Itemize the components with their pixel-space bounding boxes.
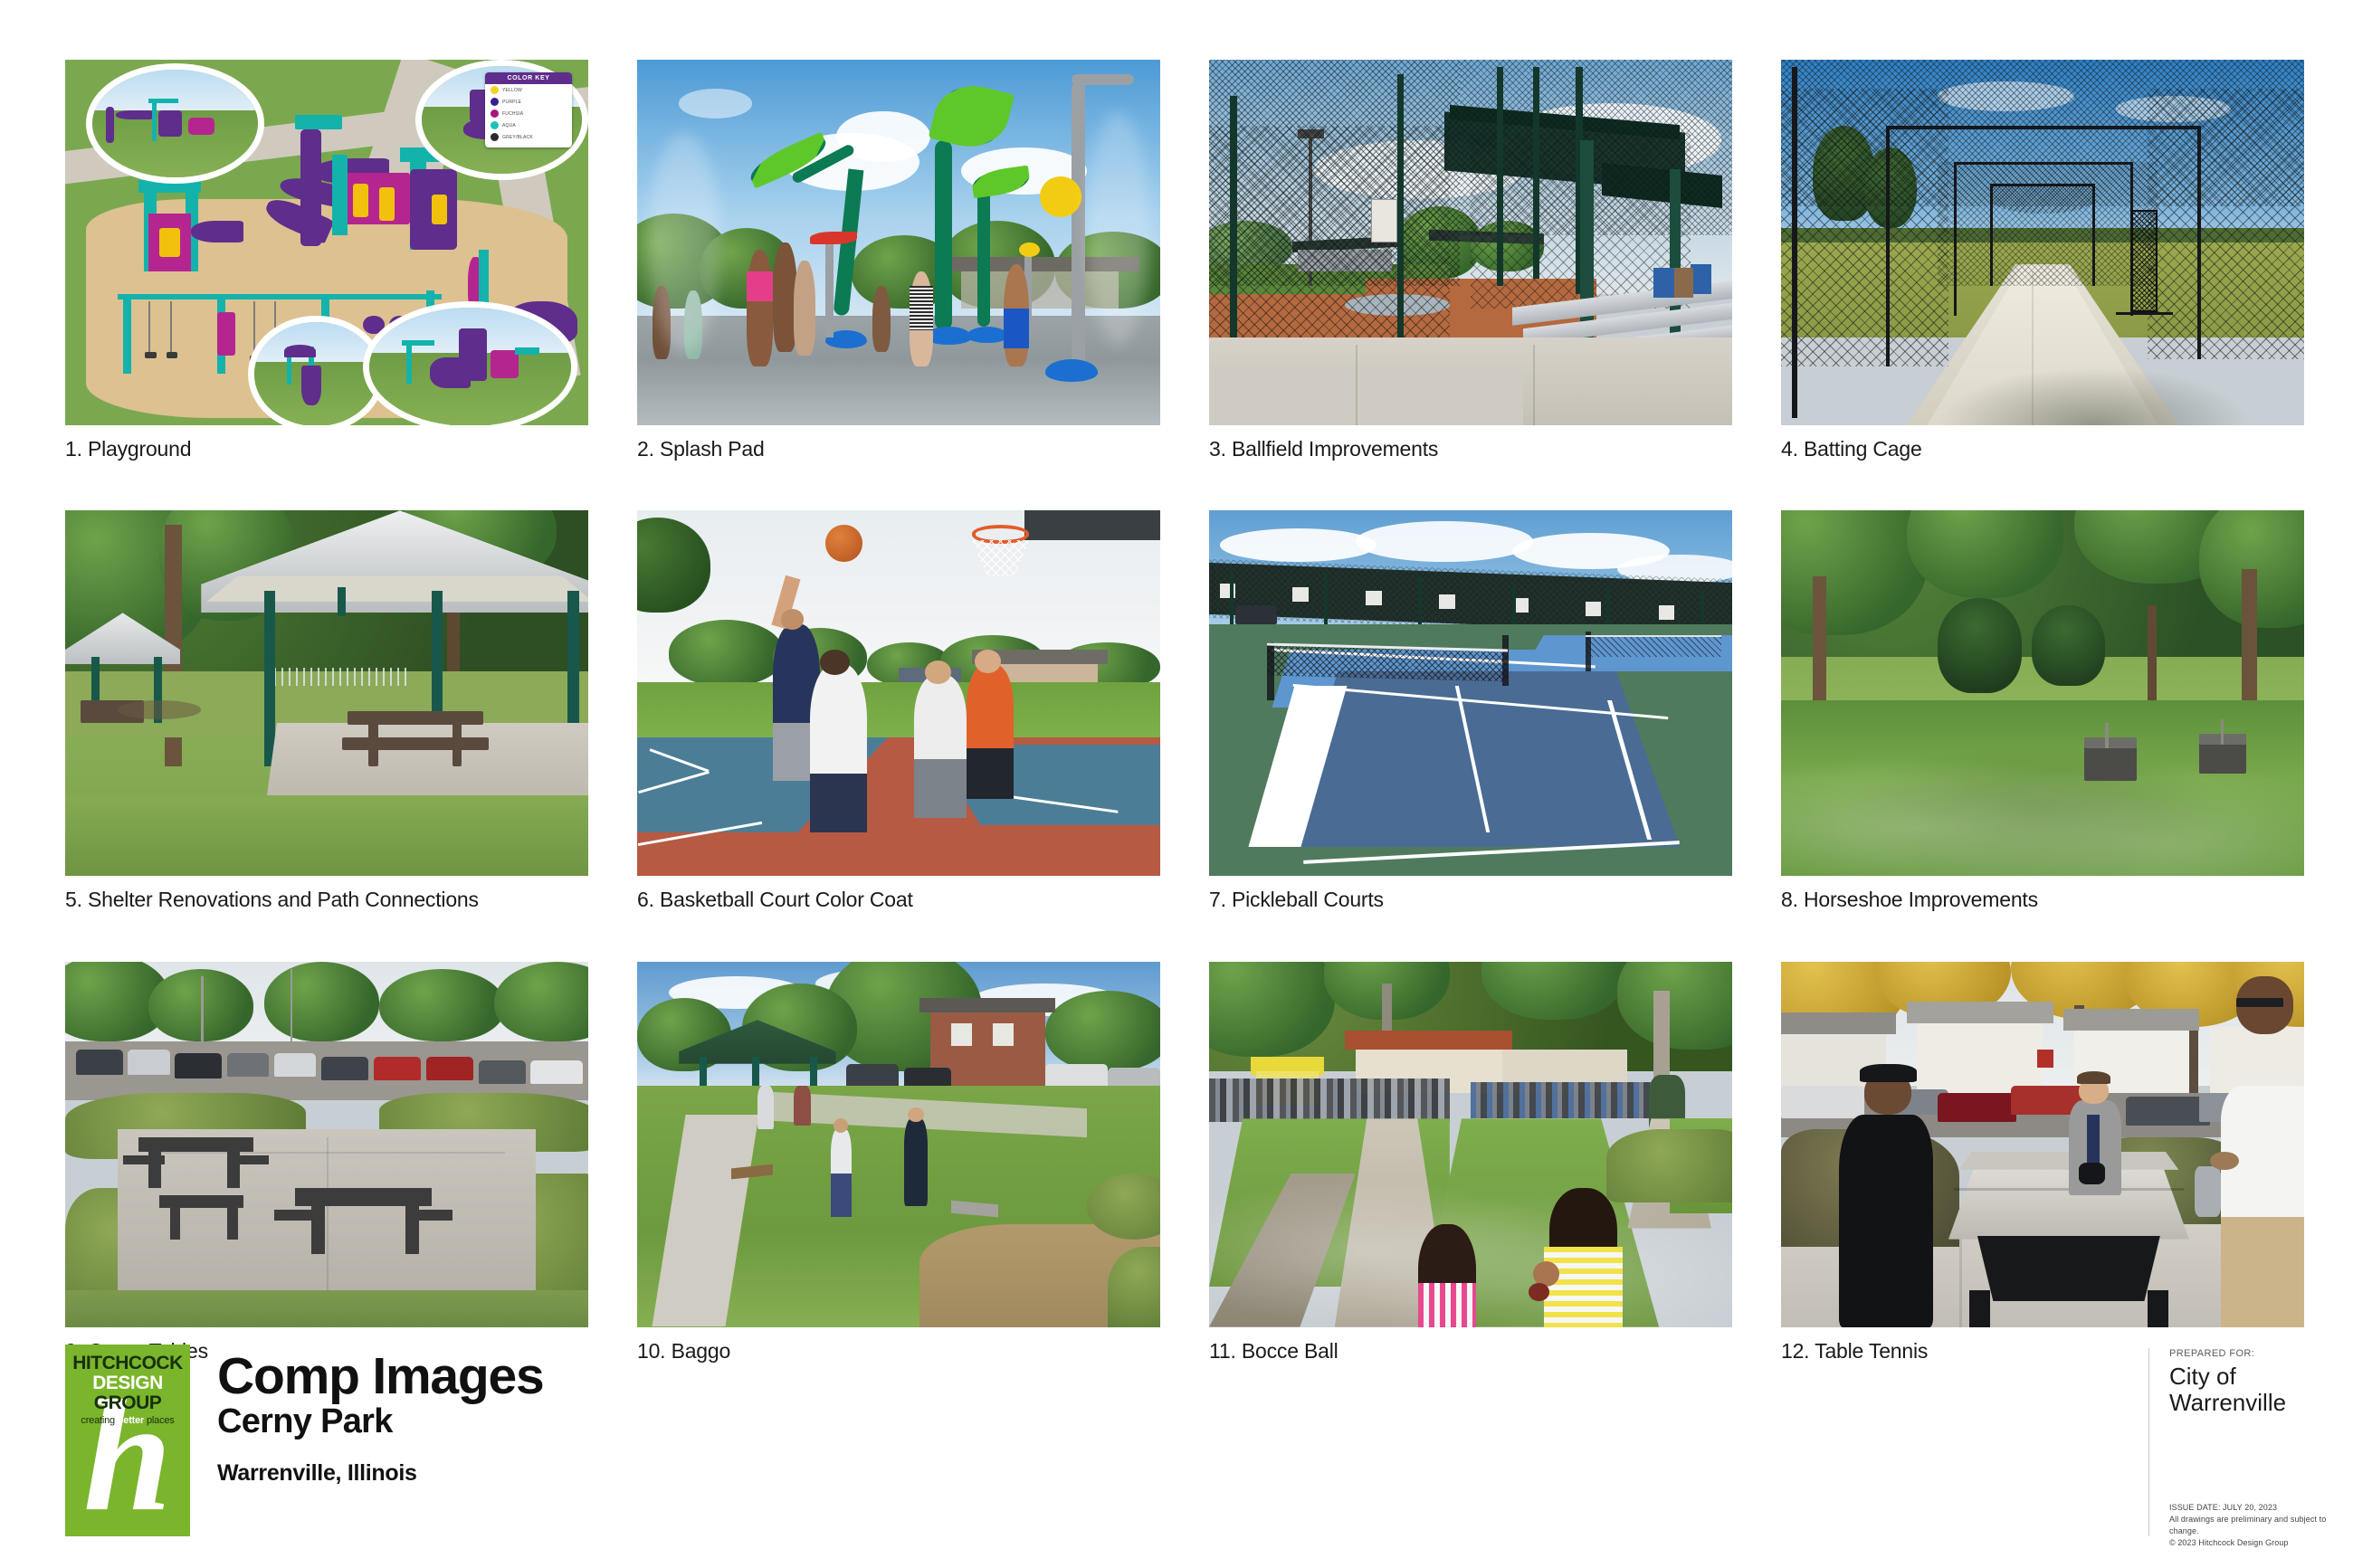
page-title: Comp Images [217,1350,544,1402]
splash-pad-child [747,250,773,366]
color-key-label: FUCHSIA [502,111,523,117]
caption-batting-cage: 4. Batting Cage [1781,438,2304,461]
color-key-label: YELLOW [502,88,522,93]
color-key-row: YELLOW [485,84,572,96]
grid-cell-shelter: 5. Shelter Renovations and Path Connecti… [65,510,588,911]
color-key-row: AQUA [485,119,572,131]
swatch-aqua [491,121,499,129]
client-name: City of Warrenville [2169,1364,2329,1416]
swatch-yellow [491,86,499,94]
color-key-header: COLOR KEY [485,72,572,84]
grid-cell-ballfield: 3. Ballfield Improvements [1209,60,1732,461]
caption-playground: 1. Playground [65,438,588,461]
image-grid: COLOR KEY YELLOW PURPLE FUCHSIA [65,60,2304,1363]
grid-cell-playground: COLOR KEY YELLOW PURPLE FUCHSIA [65,60,588,461]
grid-cell-baggo: 10. Baggo [637,962,1160,1363]
grid-cell-table-tennis: 12. Table Tennis [1781,962,2304,1363]
comp-images-sheet: COLOR KEY YELLOW PURPLE FUCHSIA [0,0,2353,1568]
playground-inset-bottom-right [363,301,577,425]
caption-splash-pad: 2. Splash Pad [637,438,1160,461]
photo-table-tennis [1781,962,2304,1327]
caption-horseshoe: 8. Horseshoe Improvements [1781,889,2304,911]
issue-date: ISSUE DATE: JULY 20, 2023 [2169,1502,2348,1514]
client-name-line1: City of [2169,1364,2329,1390]
color-key-row: GREY/BLACK [485,131,572,143]
client-name-line2: Warrenville [2169,1390,2329,1416]
playground-inset-top-left [86,63,264,184]
photo-pickleball-courts [1209,510,1732,876]
photo-game-tables [65,962,588,1327]
logo-tagline-bold: better [118,1415,144,1426]
grid-cell-splash-pad: 2. Splash Pad [637,60,1160,461]
photo-shelter-renovations [65,510,588,876]
grid-cell-horseshoe: 8. Horseshoe Improvements [1781,510,2304,911]
logo-tagline-post: places [144,1415,174,1426]
project-name: Cerny Park [217,1404,544,1440]
logo-line-group: GROUP [65,1393,190,1412]
caption-bocce: 11. Bocce Ball [1209,1340,1732,1363]
color-key-label: PURPLE [502,100,521,105]
sheet-title-block: Comp Images Cerny Park Warrenville, Illi… [217,1350,544,1487]
color-key-row: PURPLE [485,96,572,108]
grid-cell-batting-cage: 4. Batting Cage [1781,60,2304,461]
issue-copyright: © 2023 Hitchcock Design Group [2169,1537,2348,1549]
grid-cell-bocce: 11. Bocce Ball [1209,962,1732,1363]
photo-batting-cage [1781,60,2304,425]
logo-tagline-pre: creating [81,1415,117,1426]
photo-bocce-ball [1209,962,1732,1327]
logo-tagline: creating better places [65,1415,190,1426]
color-key-row: FUCHSIA [485,108,572,119]
color-key-label: GREY/BLACK [502,135,533,140]
caption-shelter: 5. Shelter Renovations and Path Connecti… [65,889,588,911]
color-key-label: AQUA [502,123,516,128]
caption-baggo: 10. Baggo [637,1340,1160,1363]
photo-playground: COLOR KEY YELLOW PURPLE FUCHSIA [65,60,588,425]
photo-basketball-court [637,510,1160,876]
photo-baggo [637,962,1160,1327]
caption-ballfield: 3. Ballfield Improvements [1209,438,1732,461]
grid-cell-pickleball: 7. Pickleball Courts [1209,510,1732,911]
swatch-fuchsia [491,109,499,118]
photo-splash-pad [637,60,1160,425]
grid-cell-basketball: 6. Basketball Court Color Coat [637,510,1160,911]
grid-cell-game-tables: 9. Game Tables [65,962,588,1363]
caption-pickleball: 7. Pickleball Courts [1209,889,1732,911]
photo-horseshoe-improvements [1781,510,2304,876]
caption-basketball: 6. Basketball Court Color Coat [637,889,1160,911]
issue-disclaimer: All drawings are preliminary and subject… [2169,1514,2348,1537]
logo-line-design: DESIGN [65,1373,190,1392]
swatch-purple [491,98,499,106]
playground-color-key: COLOR KEY YELLOW PURPLE FUCHSIA [485,72,572,147]
project-location: Warrenville, Illinois [217,1460,544,1487]
logo-line-hitchcock: HITCHCOCK [65,1354,190,1373]
issue-block: ISSUE DATE: JULY 20, 2023 All drawings a… [2148,1502,2348,1549]
photo-ballfield-improvements [1209,60,1732,425]
swatch-grey-black [491,133,499,141]
hitchcock-design-group-logo: h HITCHCOCK DESIGN GROUP creating better… [65,1345,190,1536]
prepared-for-label: PREPARED FOR: [2169,1348,2329,1359]
